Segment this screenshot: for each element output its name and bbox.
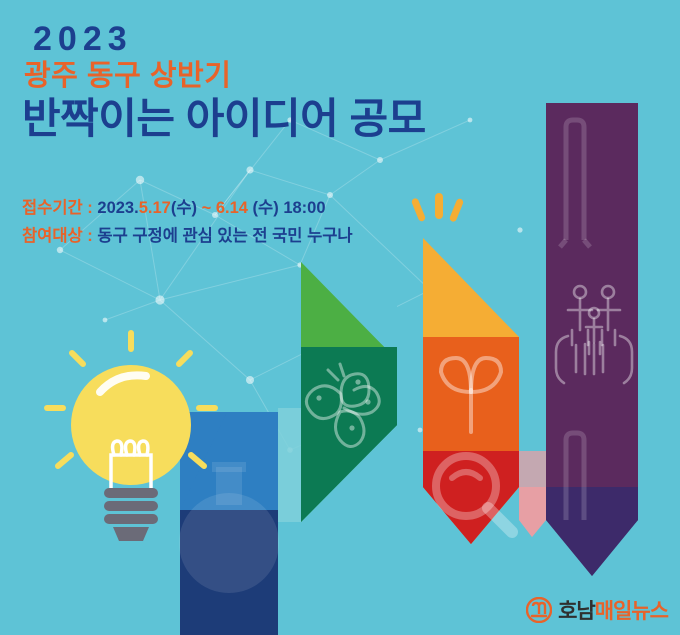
headline-group: 2023 광주 동구 상반기 반짝이는 아이디어 공모 bbox=[22, 22, 542, 142]
audience-label: 참여대상 : bbox=[22, 227, 93, 245]
period-start-prefix: 2023. bbox=[97, 199, 138, 217]
reception-period-label: 접수기간 : bbox=[22, 199, 93, 217]
audience-row: 참여대상 : 동구 구정에 관심 있는 전 국민 누구나 bbox=[22, 228, 353, 245]
period-end-date: 6.14 bbox=[216, 199, 248, 217]
reception-period-row: 접수기간 : 2023.5.17(수) ~ 6.14 (수) 18:00 bbox=[22, 200, 353, 217]
poster-root: 2023 광주 동구 상반기 반짝이는 아이디어 공모 접수기간 : 2023.… bbox=[0, 0, 680, 635]
logo-text-part2: 매일뉴스 bbox=[595, 600, 668, 623]
shape-orange-red-arrow bbox=[423, 238, 519, 544]
publisher-logo: 호남매일뉴스 bbox=[526, 595, 668, 625]
info-group: 접수기간 : 2023.5.17(수) ~ 6.14 (수) 18:00 참여대… bbox=[22, 200, 353, 255]
period-end-day: (수) bbox=[253, 199, 279, 217]
period-end-time: 18:00 bbox=[283, 199, 325, 217]
shape-green-arrow bbox=[301, 262, 397, 522]
year-label: 2023 bbox=[33, 22, 542, 58]
logo-mark-icon bbox=[526, 597, 552, 623]
subtitle-label: 광주 동구 상반기 bbox=[24, 60, 542, 93]
shape-blue-arrow bbox=[179, 412, 279, 635]
page-title: 반짝이는 아이디어 공모 bbox=[22, 95, 542, 142]
sparkle-icon bbox=[411, 193, 464, 223]
audience-value: 동구 구정에 관심 있는 전 국민 누구나 bbox=[97, 227, 352, 245]
logo-text-part1: 호남 bbox=[558, 600, 595, 623]
period-start-date: 5.17 bbox=[139, 199, 171, 217]
logo-text: 호남매일뉴스 bbox=[558, 595, 668, 625]
period-separator: ~ bbox=[202, 199, 212, 217]
shape-purple-bar bbox=[546, 103, 638, 576]
period-start-day: (수) bbox=[171, 199, 197, 217]
